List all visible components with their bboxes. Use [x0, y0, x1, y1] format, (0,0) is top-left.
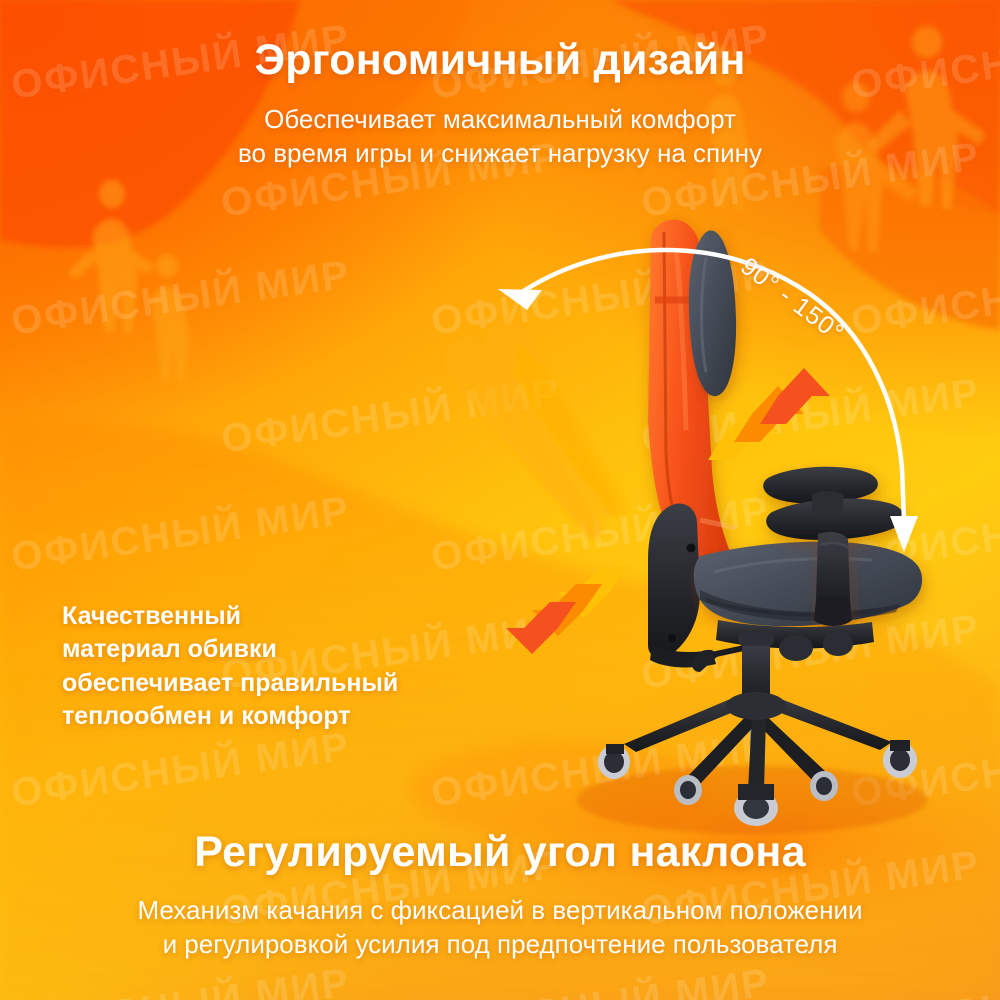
arc-arrow-down-icon — [890, 516, 918, 552]
header-title: Эргономичный дизайн — [0, 36, 1000, 85]
left-callout-line-1: Качественный — [62, 600, 492, 633]
left-callout-line-2: материал обивки — [62, 633, 492, 666]
arc-arrow-left-icon — [498, 289, 542, 310]
header-subtitle-line-2: во время игры и снижает нагрузку на спин… — [0, 137, 1000, 171]
footer-subtitle-line-2: и регулировкой усилия под предпочтение п… — [0, 928, 1000, 962]
header-subtitle-line-1: Обеспечивает максимальный комфорт — [0, 103, 1000, 137]
left-callout-line-3: обеспечивает правильный — [62, 667, 492, 700]
infographic-canvas: офисный мирофисный мирофисный мирофисный… — [0, 0, 1000, 1000]
footer-subtitle-line-1: Механизм качания с фиксацией в вертикаль… — [0, 894, 1000, 928]
footer-subtitle: Механизм качания с фиксацией в вертикаль… — [0, 894, 1000, 962]
footer-title: Регулируемый угол наклона — [0, 828, 1000, 877]
left-callout-line-4: теплообмен и комфорт — [62, 700, 492, 733]
left-callout: Качественный материал обивки обеспечивае… — [62, 600, 492, 733]
header-subtitle: Обеспечивает максимальный комфорт во вре… — [0, 103, 1000, 171]
arc-path — [516, 250, 904, 520]
